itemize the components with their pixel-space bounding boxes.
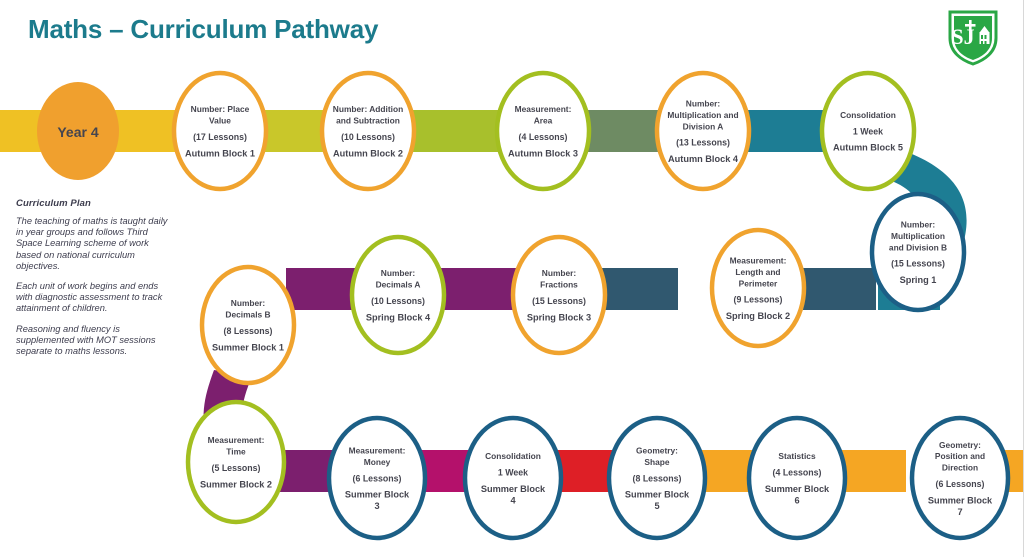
node-text-line-0: Consolidation bbox=[485, 451, 541, 461]
node-text-line-3: (4 Lessons) bbox=[519, 132, 568, 142]
connector-bar-4 bbox=[582, 110, 664, 152]
node-text-line-0: Measurement: bbox=[730, 256, 787, 266]
node-text-line-0: Measurement: bbox=[208, 435, 265, 445]
node-text-line-4: (15 Lessons) bbox=[891, 259, 945, 269]
node-text-line-1: Length and bbox=[735, 267, 780, 277]
node-text-line-3: (15 Lessons) bbox=[532, 296, 586, 306]
node-text-line-3: (17 Lessons) bbox=[193, 132, 247, 142]
node-text-line-2: and Division B bbox=[889, 242, 947, 252]
node-text-line-0: Number: bbox=[901, 220, 935, 230]
pathway-node[interactable]: Geometry:Position andDirection(6 Lessons… bbox=[912, 418, 1008, 538]
node-text-line-0: Statistics bbox=[778, 451, 816, 461]
connector-bar-8 bbox=[598, 268, 678, 310]
node-text-line-3: (8 Lessons) bbox=[224, 326, 273, 336]
node-text-line-2: 1 Week bbox=[853, 126, 883, 136]
node-text-line-1: Money bbox=[364, 457, 391, 467]
node-text-line-0: Measurement: bbox=[515, 104, 572, 114]
node-text-line-2: (4 Lessons) bbox=[773, 468, 822, 478]
node-text-line-0: Geometry: bbox=[939, 440, 981, 450]
pathway-node[interactable]: Number:Multiplicationand Division B(15 L… bbox=[872, 194, 964, 310]
node-text-line-1: Multiplication bbox=[891, 231, 945, 241]
pathway-node[interactable]: Number: PlaceValue(17 Lessons)Autumn Blo… bbox=[174, 73, 266, 189]
node-text-line-6: 3 bbox=[374, 501, 379, 511]
node-text-line-6: Summer Block bbox=[928, 495, 993, 505]
pathway-node[interactable]: Number: Additionand Subtraction(10 Lesso… bbox=[322, 73, 414, 189]
node-text-line-1: Time bbox=[226, 447, 246, 457]
node-text-line-3: (10 Lessons) bbox=[371, 296, 425, 306]
node-ring-navy bbox=[749, 418, 845, 538]
node-ring-navy bbox=[912, 418, 1008, 538]
node-text-line-1: Area bbox=[534, 116, 553, 126]
node-text-line-5: Autumn Block 1 bbox=[185, 148, 255, 158]
node-text-line-5: 4 bbox=[510, 495, 516, 505]
node-ring-navy bbox=[465, 418, 561, 538]
node-text-line-0: Measurement: bbox=[349, 446, 406, 456]
node-text-line-6: Spring Block 2 bbox=[726, 311, 790, 321]
pathway-node[interactable]: Number:Decimals A(10 Lessons)Spring Bloc… bbox=[352, 237, 444, 353]
node-text-line-3: (6 Lessons) bbox=[353, 473, 402, 483]
node-text-line-5: Spring Block 4 bbox=[366, 312, 431, 322]
node-ring-green bbox=[188, 402, 284, 522]
connector-bar-2 bbox=[258, 110, 330, 152]
node-ring-orange bbox=[202, 267, 294, 383]
node-text-line-4: Summer Block bbox=[765, 484, 830, 494]
node-text-line-7: 7 bbox=[957, 507, 962, 517]
pathway-flow-diagram: Year 4Number: PlaceValue(17 Lessons)Autu… bbox=[0, 0, 1024, 557]
node-text-line-1: and Subtraction bbox=[336, 116, 400, 126]
node-text-line-1: Decimals A bbox=[376, 280, 421, 290]
connector-bar-3 bbox=[406, 110, 502, 152]
node-text-line-3: (8 Lessons) bbox=[633, 473, 682, 483]
connector-bar-1 bbox=[110, 110, 180, 152]
node-text-line-4: (6 Lessons) bbox=[936, 479, 985, 489]
pathway-node[interactable]: Geometry:Shape(8 Lessons)Summer Block5 bbox=[609, 418, 705, 538]
node-ring-orange bbox=[322, 73, 414, 189]
pathway-node[interactable]: Measurement:Money(6 Lessons)Summer Block… bbox=[329, 418, 425, 538]
node-text-line-5: Summer Block 1 bbox=[212, 342, 284, 352]
pathway-node[interactable]: Number:Multiplication andDivision A(13 L… bbox=[657, 73, 749, 189]
node-text-line-4: Autumn Block 5 bbox=[833, 143, 903, 153]
node-text-line-5: Spring Block 3 bbox=[527, 312, 591, 322]
node-ring-green bbox=[352, 237, 444, 353]
node-text-line-5: Autumn Block 3 bbox=[508, 148, 578, 158]
node-text-line-1: Position and bbox=[935, 451, 985, 461]
node-text-line-5: Summer Block 2 bbox=[200, 479, 272, 489]
year-badge-label: Year 4 bbox=[57, 124, 98, 140]
node-text-line-2: Perimeter bbox=[739, 278, 778, 288]
node-text-line-4: (9 Lessons) bbox=[734, 295, 783, 305]
node-text-line-3: (5 Lessons) bbox=[212, 463, 261, 473]
node-ring-orange bbox=[174, 73, 266, 189]
node-text-line-0: Number: bbox=[231, 298, 265, 308]
node-text-line-0: Number: bbox=[686, 99, 720, 109]
node-text-line-5: Summer Block bbox=[625, 490, 690, 500]
node-text-line-5: Autumn Block 2 bbox=[333, 148, 403, 158]
node-text-line-0: Number: Place bbox=[191, 104, 250, 114]
node-text-line-1: Decimals B bbox=[225, 310, 270, 320]
pathway-node[interactable]: Consolidation1 WeekAutumn Block 5 bbox=[822, 73, 914, 189]
node-text-line-1: Multiplication and bbox=[667, 110, 738, 120]
node-text-line-1: Shape bbox=[644, 457, 669, 467]
node-ring-green bbox=[497, 73, 589, 189]
pathway-node[interactable]: Measurement:Length andPerimeter(9 Lesson… bbox=[712, 230, 804, 346]
connector-bar-9 bbox=[436, 268, 520, 310]
node-text-line-2: 1 Week bbox=[498, 468, 528, 478]
node-text-line-4: Summer Block bbox=[481, 484, 546, 494]
node-ring-orange bbox=[513, 237, 605, 353]
node-text-line-2: Direction bbox=[942, 463, 978, 473]
node-text-line-0: Number: bbox=[381, 268, 415, 278]
node-text-line-5: 6 bbox=[794, 495, 799, 505]
pathway-node[interactable]: Consolidation1 WeekSummer Block4 bbox=[465, 418, 561, 538]
node-text-line-4: (13 Lessons) bbox=[676, 138, 730, 148]
pathway-node[interactable]: Number:Fractions(15 Lessons)Spring Block… bbox=[513, 237, 605, 353]
node-text-line-0: Consolidation bbox=[840, 110, 896, 120]
node-text-line-1: Fractions bbox=[540, 280, 578, 290]
node-text-line-6: Autumn Block 4 bbox=[668, 154, 739, 164]
node-text-line-0: Geometry: bbox=[636, 446, 678, 456]
node-text-line-6: Spring 1 bbox=[900, 275, 937, 285]
pathway-node[interactable]: Statistics(4 Lessons)Summer Block6 bbox=[749, 418, 845, 538]
connector-bar-5 bbox=[742, 110, 828, 152]
curriculum-pathway-page: Maths – Curriculum Pathway SJ Curriculum… bbox=[0, 0, 1024, 557]
pathway-node[interactable]: Measurement:Time(5 Lessons)Summer Block … bbox=[188, 402, 284, 522]
node-text-line-1: Value bbox=[209, 116, 231, 126]
node-text-line-5: Summer Block bbox=[345, 490, 410, 500]
pathway-node[interactable]: Measurement:Area(4 Lessons)Autumn Block … bbox=[497, 73, 589, 189]
node-text-line-6: 5 bbox=[654, 501, 659, 511]
node-text-line-3: (10 Lessons) bbox=[341, 132, 395, 142]
node-text-line-2: Division A bbox=[683, 121, 724, 131]
connector-bar-7 bbox=[796, 268, 876, 310]
pathway-node[interactable]: Number:Decimals B(8 Lessons)Summer Block… bbox=[202, 267, 294, 383]
node-text-line-0: Number: bbox=[542, 268, 576, 278]
node-text-line-0: Number: Addition bbox=[333, 104, 403, 114]
